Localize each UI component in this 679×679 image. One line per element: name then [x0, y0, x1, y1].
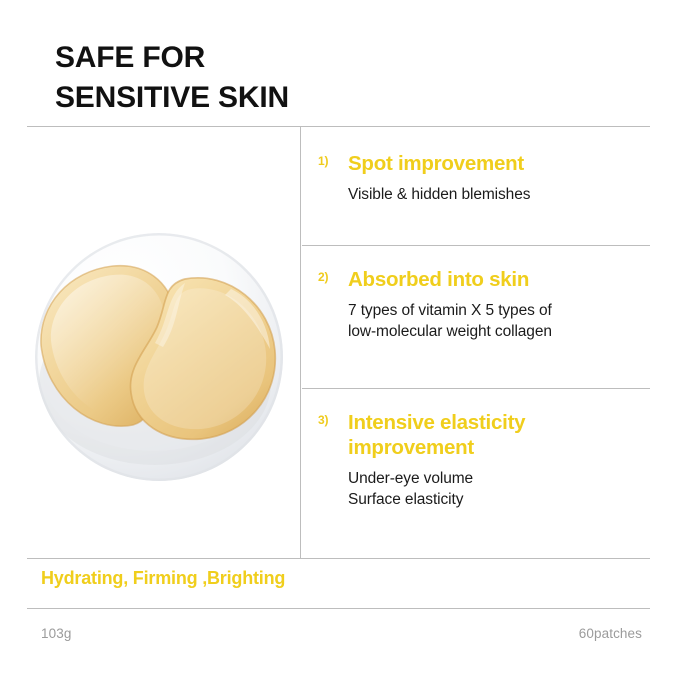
feature-3-head: 3) Intensive elasticity improvement	[318, 410, 650, 460]
feature-3-description-line-2: Surface elasticity	[348, 489, 650, 510]
feature-2-heading: Absorbed into skin	[348, 268, 529, 291]
feature-3-description-line-1: Under-eye volume	[348, 468, 650, 489]
feature-2-description-line-1: 7 types of vitamin X 5 types of	[348, 300, 650, 321]
product-infographic: SAFE FOR SENSITIVE SKIN	[0, 0, 679, 679]
feature-1-marker: 1)	[318, 154, 328, 168]
divider-tagline-top	[27, 558, 650, 559]
feature-1-description-line-1: Visible & hidden blemishes	[348, 184, 650, 205]
feature-2-head: 2) Absorbed into skin	[318, 267, 650, 292]
feature-2-description-line-2: low-molecular weight collagen	[348, 321, 650, 342]
feature-2-marker: 2)	[318, 270, 328, 284]
eye-patch-photo	[35, 233, 283, 481]
feature-item-1: 1) Spot improvement Visible & hidden ble…	[300, 151, 650, 205]
benefits-tagline: Hydrating, Firming ,Brighting	[41, 568, 285, 589]
page-title-line-2: SENSITIVE SKIN	[55, 78, 575, 118]
feature-1-description: Visible & hidden blemishes	[318, 184, 650, 205]
page-title: SAFE FOR SENSITIVE SKIN	[55, 38, 575, 118]
feature-1-head: 1) Spot improvement	[318, 151, 650, 176]
divider-tagline-bottom	[27, 608, 650, 609]
feature-1-heading: Spot improvement	[348, 152, 524, 175]
feature-3-heading-line-2: improvement	[348, 436, 474, 459]
feature-3-description: Under-eye volume Surface elasticity	[318, 468, 650, 511]
net-weight: 103g	[41, 626, 71, 641]
feature-3-heading-line-1: Intensive elasticity	[348, 411, 525, 434]
page-title-line-1: SAFE FOR	[55, 38, 575, 78]
feature-item-3: 3) Intensive elasticity improvement Unde…	[300, 410, 650, 511]
feature-3-marker: 3)	[318, 413, 328, 427]
feature-3-heading: Intensive elasticity improvement	[348, 411, 525, 459]
patch-count: 60patches	[579, 626, 642, 641]
feature-2-description: 7 types of vitamin X 5 types of low-mole…	[318, 300, 650, 343]
feature-list: 1) Spot improvement Visible & hidden ble…	[300, 127, 650, 558]
feature-item-2: 2) Absorbed into skin 7 types of vitamin…	[300, 267, 650, 343]
